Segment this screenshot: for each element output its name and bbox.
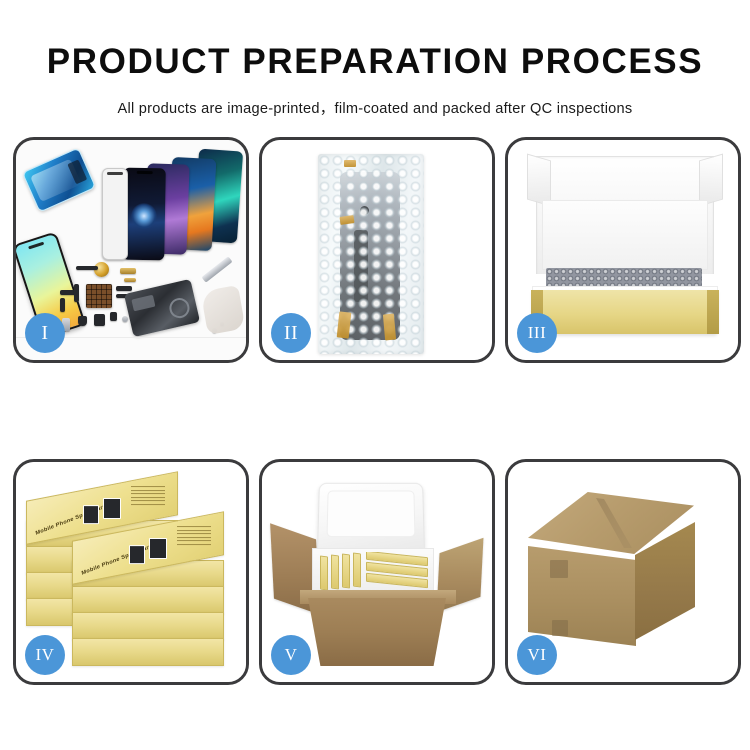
step-3-image: III <box>508 140 738 360</box>
chip-grid-part <box>86 284 112 308</box>
step-4-image: Mobile Phone Spare Parts Mobile <box>16 462 246 682</box>
inner-box-edge <box>342 553 350 588</box>
step-panel-6: VI <box>505 459 741 685</box>
phone-fan-group <box>90 148 242 256</box>
white-foam-sheet <box>542 200 708 270</box>
step-panel-5: V <box>259 459 495 685</box>
notch-icon <box>137 171 153 174</box>
spare-part-connector <box>124 278 136 282</box>
carton-front-face <box>528 546 636 646</box>
stacked-box <box>72 612 224 640</box>
page-title: PRODUCT PREPARATION PROCESS <box>0 44 750 79</box>
box-spec-lines <box>131 486 165 508</box>
blue-protective-film <box>22 147 97 212</box>
header: PRODUCT PREPARATION PROCESS All products… <box>0 0 750 118</box>
yellow-inner-boxes <box>318 552 430 592</box>
spare-part-flex <box>116 286 132 291</box>
step-badge-6: VI <box>517 635 557 675</box>
notch-icon <box>28 242 44 250</box>
product-preparation-infographic: PRODUCT PREPARATION PROCESS All products… <box>0 0 750 750</box>
spare-part-strip <box>76 266 98 270</box>
spare-part-button <box>110 312 117 321</box>
step-1-image: I <box>16 140 246 360</box>
spare-part-camera <box>94 314 105 326</box>
bubble-texture <box>318 154 424 354</box>
step-badge-4: IV <box>25 635 65 675</box>
step-5-image: V <box>262 462 492 682</box>
spare-part-speaker <box>78 316 87 326</box>
carton-corner-tab <box>552 620 568 636</box>
gold-tape-strip <box>383 314 396 341</box>
spare-part-screw <box>122 316 128 322</box>
inner-box-edge <box>353 552 361 587</box>
page-subtitle: All products are image-printed，film-coat… <box>0 97 750 118</box>
hand <box>200 285 245 335</box>
phone-back-shell <box>124 279 200 337</box>
step-panel-1: I <box>13 137 249 363</box>
step-panel-2: II <box>259 137 495 363</box>
tweezers-icon <box>201 256 232 282</box>
carton-corner-tab <box>550 560 568 578</box>
step-2-image: II <box>262 140 492 360</box>
phone-dark-display <box>122 168 166 261</box>
box-spec-lines <box>177 526 211 548</box>
step-badge-3: III <box>517 313 557 353</box>
yellow-box-tray <box>532 290 718 334</box>
step-panel-4: Mobile Phone Spare Parts Mobile <box>13 459 249 685</box>
step-badge-2: II <box>271 313 311 353</box>
step-badge-1: I <box>25 313 65 353</box>
gold-tape-strip <box>344 160 356 167</box>
white-foam-lid <box>317 483 425 553</box>
bubble-wrap-bag <box>318 154 424 354</box>
step-6-image: VI <box>508 462 738 682</box>
inner-box-edge <box>320 555 328 590</box>
box-window <box>83 505 99 524</box>
spare-part-flex <box>74 284 79 302</box>
process-step-grid: I II <box>13 137 740 687</box>
inner-box-edge <box>331 554 339 589</box>
notch-icon <box>107 172 123 175</box>
step-panel-3: III <box>505 137 741 363</box>
step-badge-5: V <box>271 635 311 675</box>
screen-glass-panel <box>102 168 128 260</box>
box-window <box>103 498 121 519</box>
box-window <box>149 538 167 559</box>
stacked-box <box>72 586 224 614</box>
spare-part-connector <box>120 268 136 274</box>
spare-part-flex <box>60 298 65 312</box>
box-window <box>129 545 145 564</box>
carton-body <box>308 598 446 666</box>
stacked-box <box>72 638 224 666</box>
